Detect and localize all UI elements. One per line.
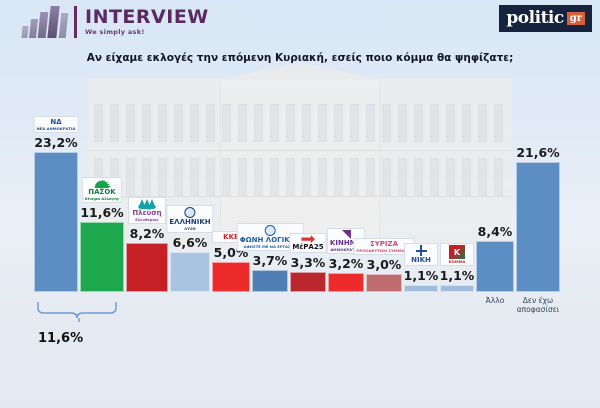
party-logo-μέρα25-icon: ΜέΡΑ25 bbox=[289, 233, 326, 253]
party-logo-name: Πλεύση bbox=[132, 209, 161, 217]
party-logo-ελληνική-λύση-icon: ΕΛΛΗΝΙΚΗΛΥΣΗ bbox=[166, 205, 213, 233]
interview-mark-icon bbox=[22, 6, 70, 40]
party-logo-subtitle: Κίνημα Αλλαγής bbox=[85, 196, 119, 201]
bar-group-ελληνική-λύση[interactable]: 6,6%ΕΛΛΗΝΙΚΗΛΥΣΗ bbox=[170, 252, 210, 292]
partner-name: politic bbox=[506, 10, 563, 27]
bar[interactable] bbox=[212, 262, 250, 292]
bar-group-άλλο[interactable]: 8,4%Άλλο bbox=[476, 241, 514, 292]
party-logo-κόκκινο-icon: ΚΚΟΜΜΑ bbox=[440, 243, 474, 266]
bar-value-label: 6,6% bbox=[173, 235, 208, 250]
party-logo-subtitle: ΚΟΜΜΑ bbox=[449, 259, 466, 264]
axis-label-δεν-έχω-αποφασίσει: Δεν έχωαποφασίσει bbox=[517, 296, 560, 314]
bar-value-label: 1,1% bbox=[404, 268, 439, 283]
bar[interactable] bbox=[476, 241, 514, 292]
party-logo-subtitle: ΛΥΣΗ bbox=[184, 226, 195, 231]
party-logo-πασοκ-icon: ΠΑΣΟΚΚίνημα Αλλαγής bbox=[82, 177, 122, 203]
bar[interactable] bbox=[290, 272, 326, 292]
bar[interactable] bbox=[516, 162, 560, 292]
bar[interactable] bbox=[440, 285, 474, 292]
bar[interactable] bbox=[366, 274, 402, 292]
party-logo-name: ΝΙΚΗ bbox=[411, 256, 431, 264]
bar[interactable] bbox=[170, 252, 210, 292]
bar[interactable] bbox=[80, 222, 124, 292]
header-bar: INTERVIEW We simply ask! politic gr bbox=[0, 0, 600, 44]
bar-value-label: 11,6% bbox=[80, 205, 123, 220]
bar-value-label: 8,2% bbox=[130, 226, 165, 241]
bar-group-δεν-έχω-αποφασίσει[interactable]: 21,6%Δεν έχωαποφασίσει bbox=[516, 162, 560, 292]
gap-value-label: 11,6% bbox=[38, 331, 83, 346]
poll-question: Αν είχαμε εκλογές την επόμενη Κυριακή, ε… bbox=[0, 52, 600, 64]
party-logo-name: ΜέΡΑ25 bbox=[292, 243, 323, 251]
bar-value-label: 3,2% bbox=[329, 256, 364, 271]
party-logo-name: ΣΥΡΙΖΑ bbox=[370, 240, 398, 248]
bar-group-μέρα25[interactable]: 3,3%ΜέΡΑ25 bbox=[290, 272, 326, 292]
bar-group-κκε[interactable]: 5,0%ΚΚΕ bbox=[212, 262, 250, 292]
brand-tagline: We simply ask! bbox=[85, 28, 209, 36]
bar[interactable] bbox=[34, 152, 78, 292]
party-logo-subtitle: Ελευθερίας bbox=[135, 217, 158, 222]
bar-group-νικη[interactable]: 1,1%ΝΙΚΗ bbox=[404, 285, 438, 292]
bar[interactable] bbox=[126, 243, 168, 292]
politic-gr-logo[interactable]: politic gr bbox=[499, 5, 592, 32]
bar-group-κόκκινο[interactable]: 1,1%ΚΚΟΜΜΑ bbox=[440, 285, 474, 292]
bar-group-πασοκ[interactable]: 11,6%ΠΑΣΟΚΚίνημα Αλλαγής bbox=[80, 222, 124, 292]
bar-value-label: 3,7% bbox=[253, 253, 288, 268]
party-logo-subtitle: ΝΕΑ ΔΗΜΟΚΡΑΤΙΑ bbox=[37, 126, 76, 131]
bar-value-label: 8,4% bbox=[478, 224, 513, 239]
bar-group-νδ[interactable]: 23,2%ΝΔΝΕΑ ΔΗΜΟΚΡΑΤΙΑ bbox=[34, 152, 78, 292]
logo-divider bbox=[74, 6, 77, 38]
bar-value-label: 3,0% bbox=[367, 257, 402, 272]
party-logo-πλεύση-ελευθερίας-icon: ΠλεύσηΕλευθερίας bbox=[128, 197, 166, 224]
bar-group-κίνημα-δημοκρατίας[interactable]: 3,2%ΚΙΝΗΜΑΔΗΜΟΚΡΑΤΙΑΣ bbox=[328, 273, 364, 292]
bar[interactable] bbox=[328, 273, 364, 292]
bar-group-φωνή-λογικής[interactable]: 3,7%ΦΩΝΗ ΛΟΓΙΚΗΣΑΦΗΣΤΕ ΜΕ ΝΑ ΕΡΓΑΣΤΩ bbox=[252, 270, 288, 292]
interview-logo: INTERVIEW We simply ask! bbox=[22, 6, 209, 40]
bar-group-πλεύση-ελευθερίας[interactable]: 8,2%ΠλεύσηΕλευθερίας bbox=[126, 243, 168, 292]
bar[interactable] bbox=[252, 270, 288, 292]
party-logo-νδ-icon: ΝΔΝΕΑ ΔΗΜΟΚΡΑΤΙΑ bbox=[34, 116, 79, 133]
bar-value-label: 3,3% bbox=[291, 255, 326, 270]
party-logo-name: ΠΑΣΟΚ bbox=[88, 188, 115, 196]
brand-name: INTERVIEW bbox=[85, 7, 209, 27]
bar-value-label: 1,1% bbox=[440, 268, 475, 283]
bar-group-συριζα[interactable]: 3,0%ΣΥΡΙΖΑΠΡΟΟΔΕΥΤΙΚΗ ΣΥΜΜΑΧΙΑ bbox=[366, 274, 402, 292]
bar-value-label: 21,6% bbox=[516, 145, 559, 160]
party-logo-name: ΝΔ bbox=[50, 118, 61, 126]
bar[interactable] bbox=[404, 285, 438, 292]
axis-label-άλλο: Άλλο bbox=[486, 296, 505, 305]
partner-badge: gr bbox=[567, 12, 585, 25]
party-logo-name: ΕΛΛΗΝΙΚΗ bbox=[169, 218, 210, 226]
party-logo-νικη-icon: ΝΙΚΗ bbox=[404, 243, 438, 266]
gap-brace-annotation bbox=[36, 300, 122, 322]
bar-value-label: 23,2% bbox=[34, 135, 77, 150]
